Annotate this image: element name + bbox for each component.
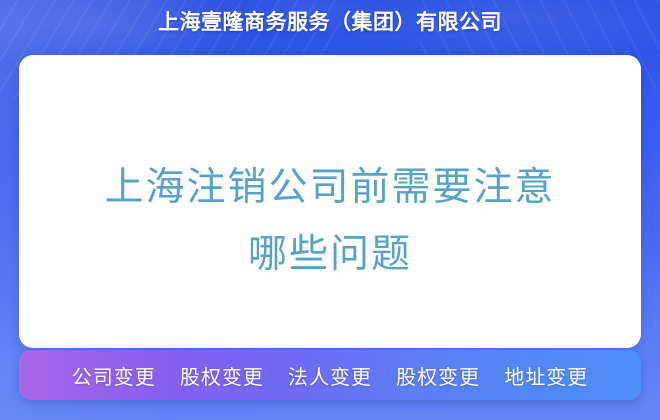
service-item-legal-person-change[interactable]: 法人变更 (288, 367, 372, 389)
content-card-inner: 上海注销公司前需要注意 哪些问题 (19, 55, 641, 348)
service-item-equity-change-2[interactable]: 股权变更 (396, 367, 480, 389)
promo-poster: 上海壹隆商务服务（集团）有限公司 上海注销公司前需要注意 哪些问题 公司变更 股… (0, 0, 660, 420)
service-item-company-change[interactable]: 公司变更 (72, 367, 156, 389)
service-item-equity-change[interactable]: 股权变更 (180, 367, 264, 389)
company-name: 上海壹隆商务服务（集团）有限公司 (158, 8, 502, 38)
headline-line-1: 上海注销公司前需要注意 (104, 154, 555, 221)
services-bar: 公司变更 股权变更 法人变更 股权变更 地址变更 (19, 350, 641, 400)
content-card: 上海注销公司前需要注意 哪些问题 (19, 55, 641, 348)
services-list: 公司变更 股权变更 法人变更 股权变更 地址变更 (72, 361, 589, 390)
service-item-address-change[interactable]: 地址变更 (504, 367, 588, 389)
headline-line-2: 哪些问题 (248, 221, 412, 288)
header: 上海壹隆商务服务（集团）有限公司 (0, 8, 660, 38)
